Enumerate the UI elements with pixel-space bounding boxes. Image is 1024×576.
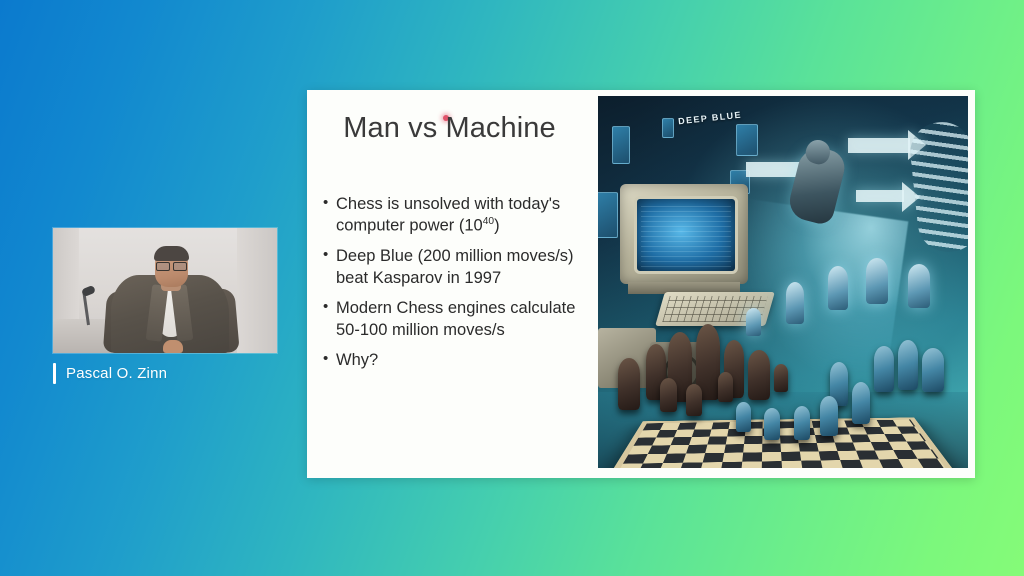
slide-bullet-list: Chess is unsolved with today's computer … <box>322 194 594 381</box>
chess-piece-blue <box>736 402 751 432</box>
video-wall-right-shading <box>237 228 277 353</box>
chess-piece-floating <box>866 258 888 304</box>
presenter-hands <box>163 340 183 353</box>
slide-title: Man vs Machine <box>307 112 592 145</box>
chess-piece-floating <box>746 308 761 336</box>
chess-piece-dark <box>618 358 640 410</box>
chess-piece-dark <box>748 350 770 400</box>
chess-piece-blue <box>874 346 894 392</box>
screen-root: Pascal O. Zinn Man vs Machine Chess is u… <box>0 0 1024 576</box>
presenter-figure <box>111 248 229 353</box>
chess-piece-dark <box>660 378 677 412</box>
chess-piece-dark <box>774 364 788 392</box>
glasses-icon <box>156 262 187 269</box>
speaker-name: Pascal O. Zinn <box>53 363 167 384</box>
list-item: Why? <box>322 350 594 371</box>
presenter-video[interactable] <box>53 228 277 353</box>
list-item: Modern Chess engines calculate 50-100 mi… <box>322 298 594 341</box>
bullet-text-suffix: ) <box>494 217 500 235</box>
circuit-chip <box>736 124 758 156</box>
chess-piece-blue <box>794 406 810 440</box>
bullet-text: Why? <box>336 351 378 369</box>
deep-blue-chess-illustration: DEEP BLUE <box>598 96 968 468</box>
progress-arrow-icon <box>856 190 904 202</box>
circuit-chip <box>662 118 674 138</box>
chess-piece-blue <box>764 408 780 440</box>
chess-piece-dark <box>718 372 733 402</box>
chess-piece-floating <box>828 266 848 310</box>
chess-piece-blue <box>852 382 870 424</box>
chess-piece-floating <box>908 264 930 308</box>
chess-piece-dark <box>686 384 702 416</box>
presentation-slide[interactable]: Man vs Machine Chess is unsolved with to… <box>307 90 975 478</box>
chess-piece-blue <box>820 396 838 436</box>
circuit-chip <box>612 126 630 164</box>
progress-arrow-icon <box>848 138 910 153</box>
list-item: Deep Blue (200 million moves/s) beat Kas… <box>322 246 594 289</box>
bullet-text: Modern Chess engines calculate 50-100 mi… <box>336 299 575 338</box>
chess-piece-floating <box>786 282 804 324</box>
bullet-text: Chess is unsolved with today's computer … <box>336 195 560 235</box>
speaker-name-label: Pascal O. Zinn <box>66 365 167 382</box>
chess-piece-blue <box>898 340 918 390</box>
chess-piece-blue <box>922 348 944 392</box>
speaker-name-accent-bar <box>53 363 56 384</box>
bullet-text: Deep Blue (200 million moves/s) beat Kas… <box>336 247 574 286</box>
bullet-superscript: 40 <box>483 216 494 227</box>
circuit-chip <box>598 192 618 238</box>
presenter-hair <box>154 246 189 261</box>
list-item: Chess is unsolved with today's computer … <box>322 194 594 237</box>
chess-board <box>602 417 962 468</box>
